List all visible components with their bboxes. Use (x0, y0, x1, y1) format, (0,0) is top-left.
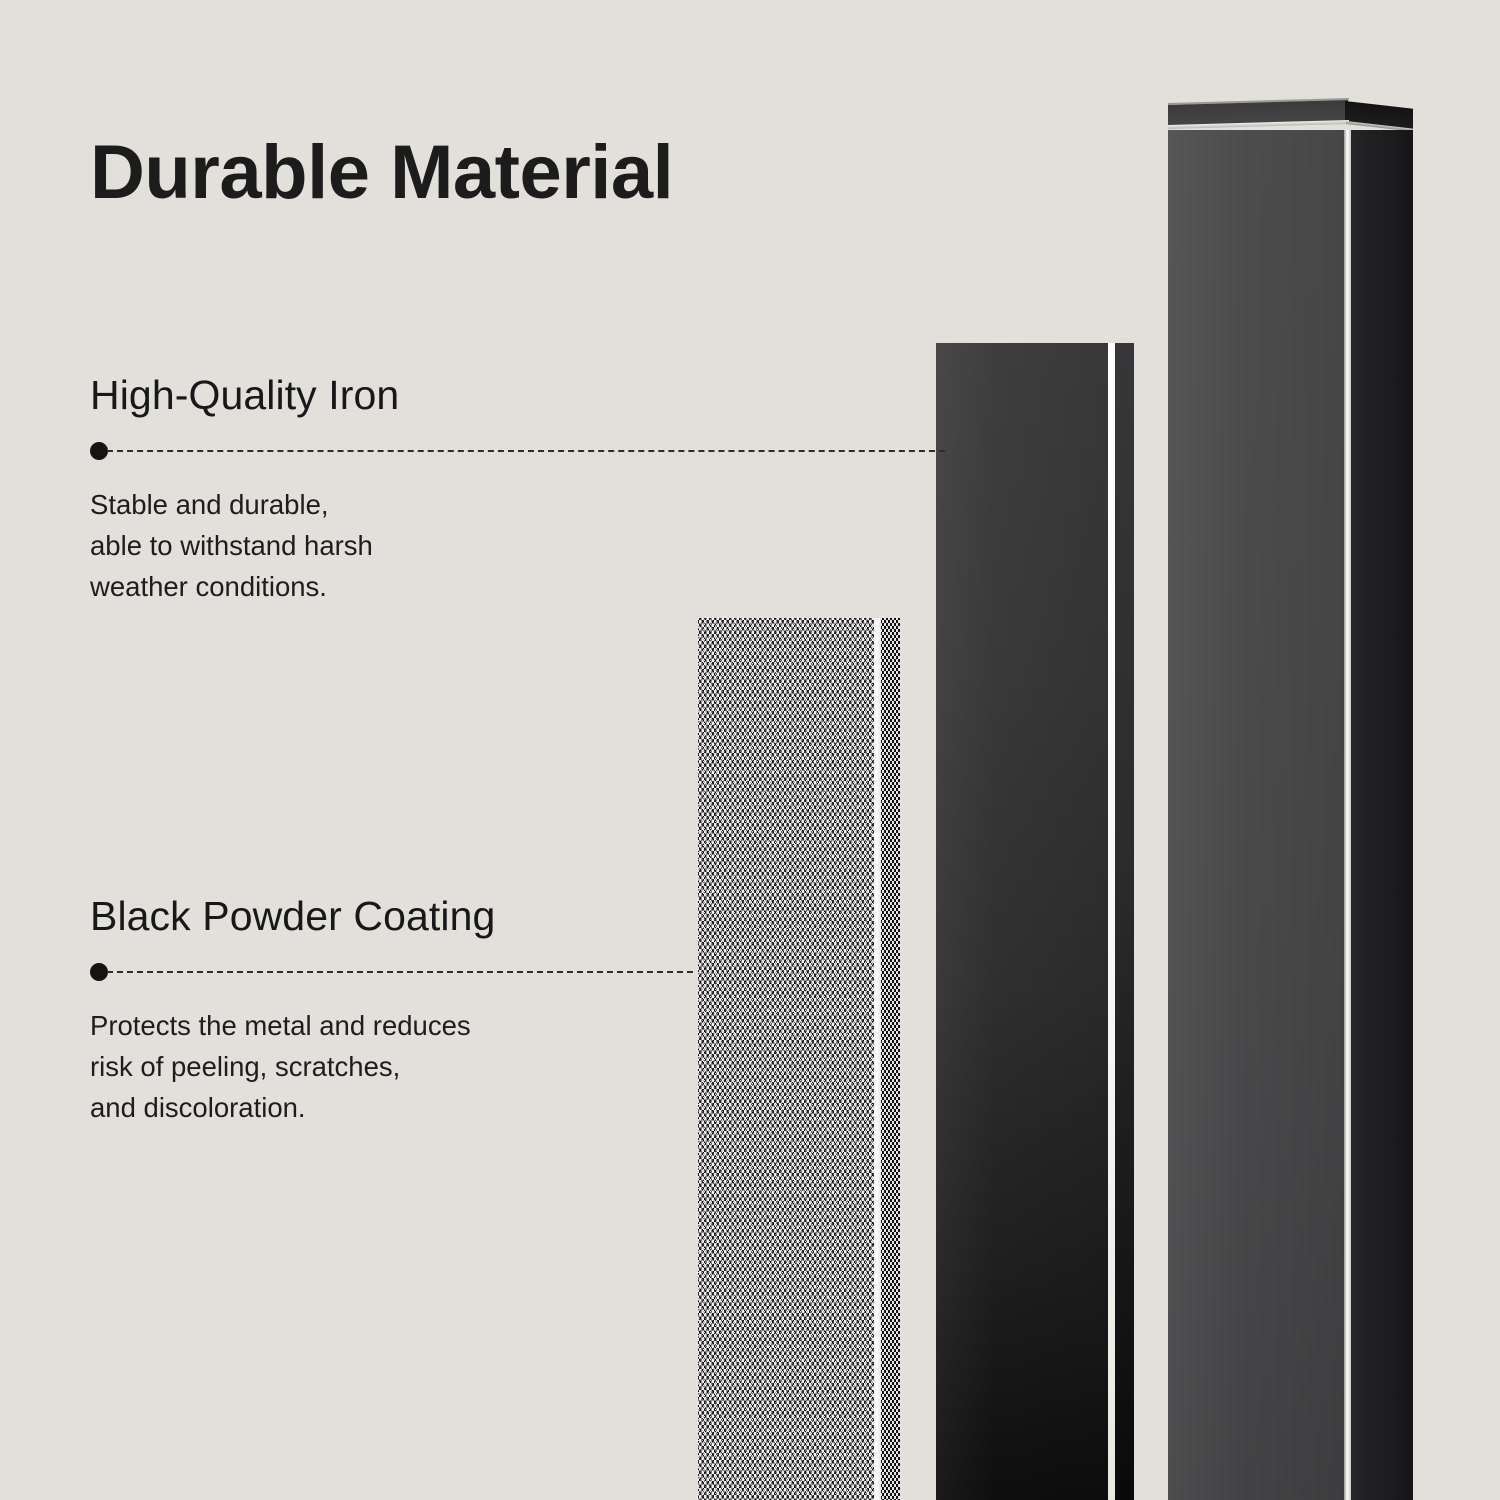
dashed-line-icon (107, 971, 693, 973)
page-title: Durable Material (90, 129, 673, 216)
post-iron-side-face (1115, 343, 1134, 1500)
callout-body-coating: Protects the metal and reduces risk of p… (90, 1005, 495, 1128)
callout-heading-coating: Black Powder Coating (90, 893, 495, 940)
post-capped-side-face (1351, 130, 1413, 1500)
post-capped-edge-highlight (1344, 130, 1351, 1500)
post-coated-side-face (881, 618, 900, 1500)
callout-high-quality-iron: High-Quality Iron Stable and durable, ab… (90, 372, 399, 635)
product-post-iron (936, 343, 1134, 1500)
post-iron-front-face (936, 343, 1108, 1500)
post-capped-front-face (1168, 130, 1344, 1500)
dashed-line-icon (107, 450, 945, 452)
infographic-canvas: Durable Material High-Quality Iron Stabl… (0, 0, 1500, 1500)
product-post-capped (1168, 97, 1413, 1500)
post-cap (1168, 97, 1413, 133)
post-coated-edge-highlight (874, 618, 881, 1500)
bullet-dot-icon (90, 963, 108, 981)
post-coated-front-face (698, 618, 874, 1500)
leader-line-iron (90, 441, 399, 461)
callout-body-iron: Stable and durable, able to withstand ha… (90, 484, 399, 607)
post-iron-edge-highlight (1108, 343, 1115, 1500)
post-capped-body (1168, 130, 1413, 1500)
callout-black-powder-coating: Black Powder Coating Protects the metal … (90, 893, 495, 1156)
leader-line-coating (90, 962, 495, 982)
product-post-coated (698, 618, 900, 1500)
callout-heading-iron: High-Quality Iron (90, 372, 399, 419)
bullet-dot-icon (90, 442, 108, 460)
